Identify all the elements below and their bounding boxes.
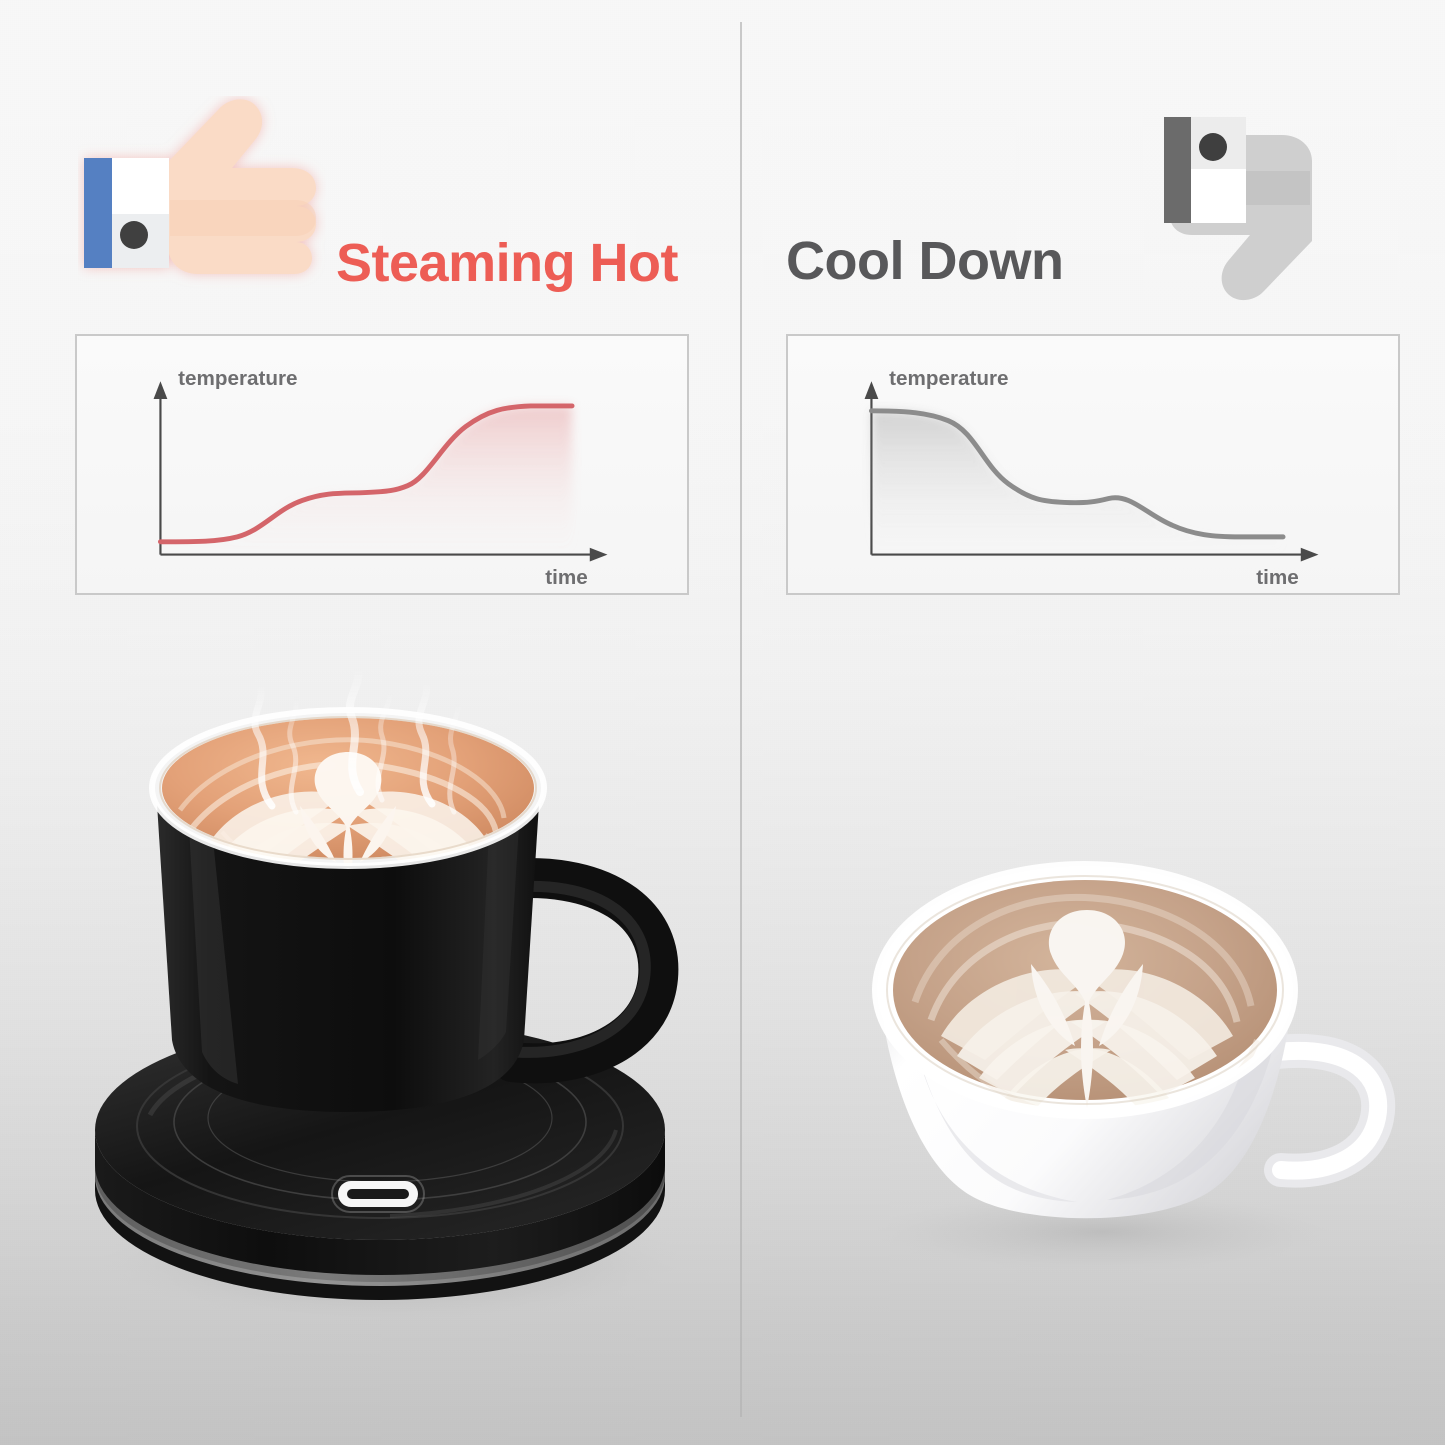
- mug-warmer-product-image: [60, 660, 700, 1340]
- x-axis-label: time: [1256, 566, 1298, 589]
- left-panel-title: Steaming Hot: [336, 232, 678, 294]
- x-axis-arrow: [1301, 548, 1319, 562]
- right-panel-title: Cool Down: [786, 230, 1063, 292]
- thumbs-up-icon: [78, 96, 326, 300]
- comparison-infographic: Steaming Hot: [0, 0, 1445, 1445]
- right-panel-cool-down: Cool Down: [742, 0, 1445, 1445]
- y-axis-label: temperature: [889, 367, 1008, 390]
- y-axis-arrow: [154, 381, 168, 399]
- x-axis-arrow: [590, 548, 608, 562]
- x-axis-label: time: [545, 566, 587, 589]
- y-axis-arrow: [865, 381, 879, 399]
- chart-steaming-hot: temperature time: [75, 334, 689, 595]
- chart-cool-down: temperature time: [786, 334, 1400, 595]
- white-latte-cup-image: [845, 840, 1405, 1290]
- left-panel-steaming-hot: Steaming Hot: [0, 0, 740, 1445]
- y-axis-label: temperature: [178, 367, 297, 390]
- thumbs-down-icon: [1160, 105, 1396, 303]
